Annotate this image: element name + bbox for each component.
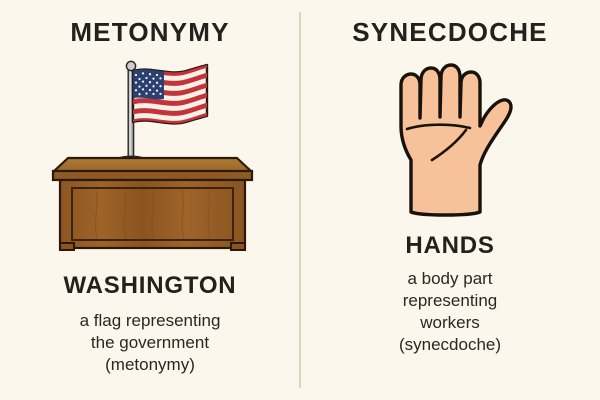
caption-line: a flag representing	[0, 310, 300, 332]
caption-metonymy: a flag representing the government (meto…	[0, 310, 300, 376]
us-flag	[131, 62, 210, 126]
term-heading-washington: WASHINGTON	[0, 272, 300, 300]
caption-line: a body part	[300, 268, 600, 290]
caption-synecdoche: a body part representing workers (synecd…	[300, 268, 600, 356]
panel-metonymy: METONYMY	[0, 0, 300, 400]
metonymy-synecdoche-infographic: METONYMY	[0, 0, 600, 400]
panel-synecdoche: SYNECDOCHE HANDS a body part representin…	[300, 0, 600, 400]
open-hand-illustration	[300, 0, 600, 230]
caption-line: workers	[300, 312, 600, 334]
caption-line: (synecdoche)	[300, 334, 600, 356]
caption-line: (metonymy)	[0, 354, 300, 376]
caption-line: the government	[0, 332, 300, 354]
term-heading-hands: HANDS	[300, 232, 600, 260]
wooden-desk	[53, 158, 252, 250]
hand-shape	[401, 65, 511, 215]
flag-on-desk-illustration	[0, 0, 300, 260]
caption-line: representing	[300, 290, 600, 312]
